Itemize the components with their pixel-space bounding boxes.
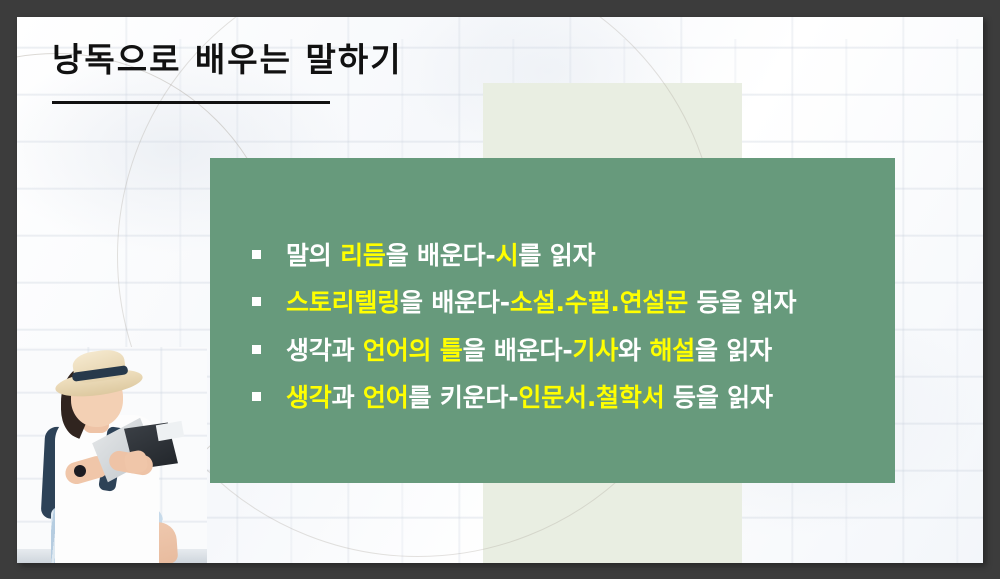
straw-hat-icon [55, 351, 143, 391]
highlighted-text: 언어의 틀 [363, 336, 463, 365]
list-item-label: 스토리텔링을 배운다-소설.수필.연설문 등을 읽자 [286, 287, 796, 318]
list-item-label: 생각과 언어의 틀을 배운다-기사와 해설을 읽자 [286, 335, 772, 366]
list-item: 스토리텔링을 배운다-소설.수필.연설문 등을 읽자 [252, 287, 885, 318]
square-bullet-icon [252, 297, 261, 306]
title-block: 낭독으로 배우는 말하기 [52, 43, 472, 78]
page-title: 낭독으로 배우는 말하기 [52, 43, 472, 78]
highlighted-text: 인문서.철학서 [518, 383, 664, 412]
slide-stage: 낭독으로 배우는 말하기 말의 리듬을 배운다-시를 읽자스토리텔링을 배운다-… [0, 0, 1000, 579]
highlighted-text: 시 [496, 241, 519, 270]
highlighted-text: 소설.수필.연설문 [510, 288, 688, 317]
list-item: 생각과 언어를 키운다-인문서.철학서 등을 읽자 [252, 382, 885, 413]
highlighted-text: 기사 [573, 336, 619, 365]
list-item-label: 생각과 언어를 키운다-인문서.철학서 등을 읽자 [286, 382, 773, 413]
plain-text: 등을 읽자 [665, 383, 773, 412]
plain-text: 생각과 [286, 336, 363, 365]
plain-text: 을 배운다- [463, 336, 573, 365]
plain-text: 를 읽자 [518, 241, 595, 270]
student-reading-photo [17, 347, 207, 563]
plain-text: 과 [332, 383, 363, 412]
list-item: 생각과 언어의 틀을 배운다-기사와 해설을 읽자 [252, 335, 885, 366]
plain-text: 을 배운다- [386, 241, 496, 270]
wristwatch-icon [74, 465, 86, 477]
highlighted-text: 스토리텔링 [286, 288, 400, 317]
highlighted-text: 언어 [363, 383, 409, 412]
presentation-slide: 낭독으로 배우는 말하기 말의 리듬을 배운다-시를 읽자스토리텔링을 배운다-… [17, 17, 983, 563]
list-item-label: 말의 리듬을 배운다-시를 읽자 [286, 240, 595, 271]
square-bullet-icon [252, 345, 261, 354]
highlighted-text: 해설 [649, 336, 695, 365]
content-panel: 말의 리듬을 배운다-시를 읽자스토리텔링을 배운다-소설.수필.연설문 등을 … [210, 158, 895, 483]
title-underline [52, 101, 330, 104]
plain-text: 와 [618, 336, 649, 365]
highlighted-text: 리듬 [340, 241, 386, 270]
highlighted-text: 생각 [286, 383, 332, 412]
plain-text: 를 키운다- [409, 383, 519, 412]
plain-text: 을 배운다- [400, 288, 510, 317]
list-item: 말의 리듬을 배운다-시를 읽자 [252, 240, 885, 271]
plain-text: 등을 읽자 [688, 288, 796, 317]
plain-text: 을 읽자 [695, 336, 772, 365]
square-bullet-icon [252, 250, 261, 259]
bullet-list: 말의 리듬을 배운다-시를 읽자스토리텔링을 배운다-소설.수필.연설문 등을 … [252, 240, 885, 413]
square-bullet-icon [252, 392, 261, 401]
plain-text: 말의 [286, 241, 340, 270]
